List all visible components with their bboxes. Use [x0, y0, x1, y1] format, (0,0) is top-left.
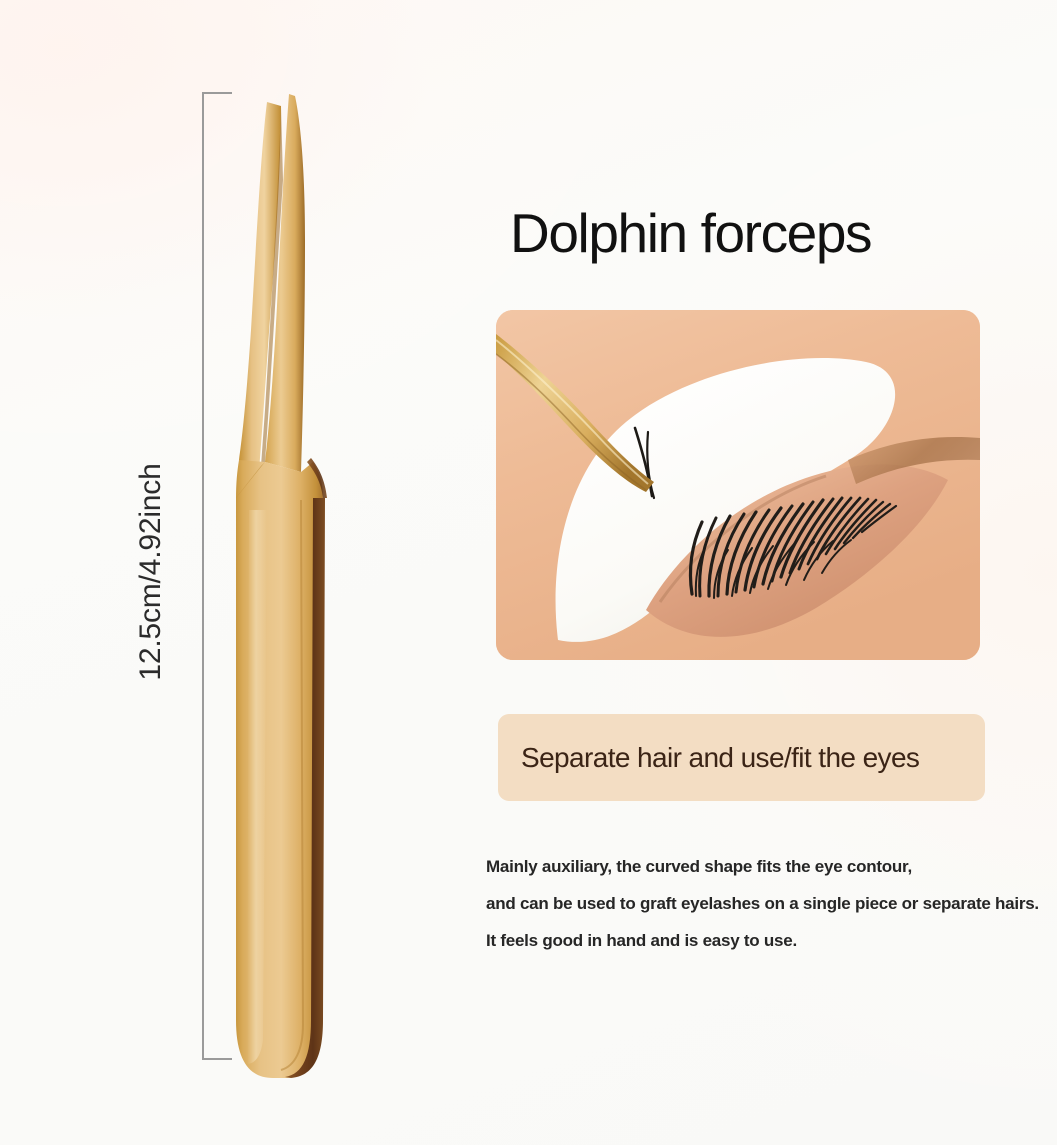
description-line-3: It feels good in hand and is easy to use… — [486, 922, 1046, 959]
feature-banner-text: Separate hair and use/fit the eyes — [521, 742, 919, 774]
product-description: Mainly auxiliary, the curved shape fits … — [486, 848, 1046, 959]
bracket-vertical-line — [202, 92, 204, 1060]
product-infographic: 12.5cm/4.92inch — [0, 0, 1057, 1145]
eyelash-application-photo — [496, 310, 980, 660]
right-content-column: Dolphin forceps — [486, 0, 1046, 1145]
page-title: Dolphin forceps — [510, 201, 871, 265]
description-line-2: and can be used to graft eyelashes on a … — [486, 885, 1046, 922]
feature-banner: Separate hair and use/fit the eyes — [498, 714, 985, 801]
dimension-label: 12.5cm/4.92inch — [134, 432, 168, 712]
description-line-1: Mainly auxiliary, the curved shape fits … — [486, 848, 1046, 885]
tweezer-illustration — [215, 80, 375, 1080]
